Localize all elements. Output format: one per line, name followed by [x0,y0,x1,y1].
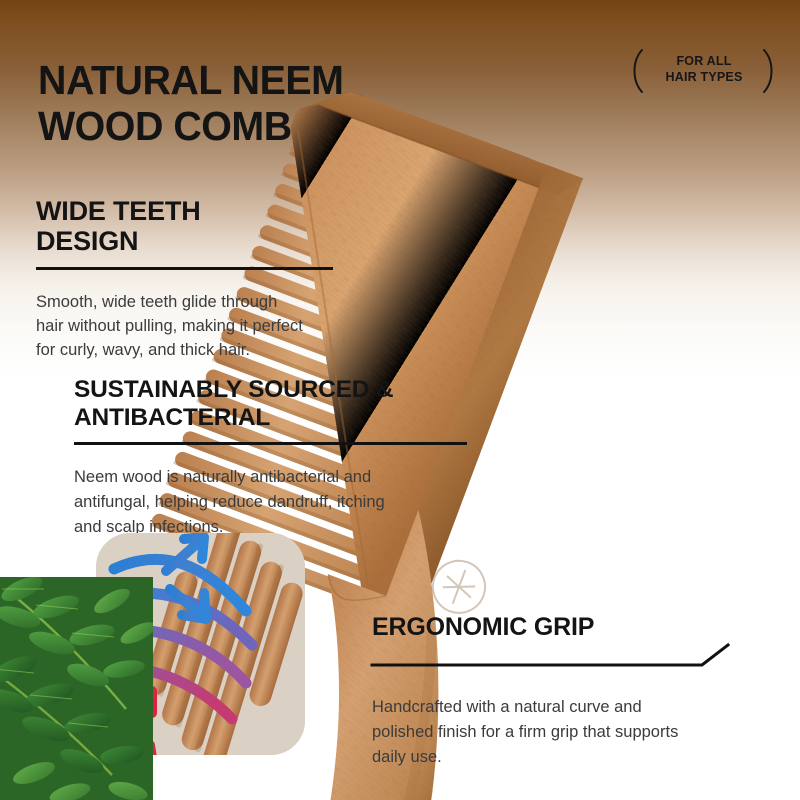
feature-ergonomic-grip: Ergonomic Grip Handcrafted with a natura… [372,613,752,770]
feature-3-body: Handcrafted with a natural curve and pol… [372,695,747,770]
feature-1-underline [36,267,333,270]
feature-sustainably-sourced: Sustainably Sourced & Antibacterial Neem… [74,376,474,540]
feature-2-heading: Sustainably Sourced & Antibacterial [74,376,474,432]
right-parenthesis-icon [760,48,778,94]
feature-3-heading: Ergonomic Grip [372,613,752,642]
neem-leaves-image [0,577,153,800]
feature-3-underline [372,651,732,673]
feature-wide-teeth-design: Wide Teeth Design Smooth, wide teeth gli… [36,196,366,362]
page-title: Natural Neem Wood Comb [38,57,343,149]
infographic-canvas: Natural Neem Wood Comb For All Hair Type… [0,0,800,800]
left-parenthesis-icon [628,48,646,94]
feature-2-body: Neem wood is naturally antibacterial and… [74,465,464,540]
feature-1-body: Smooth, wide teeth glide through hair wi… [36,290,366,362]
badge-for-all-hair-types: For All Hair Types [624,48,784,94]
feature-2-underline [74,442,467,445]
badge-label: For All Hair Types [648,53,760,85]
feature-1-heading: Wide Teeth Design [36,196,366,256]
